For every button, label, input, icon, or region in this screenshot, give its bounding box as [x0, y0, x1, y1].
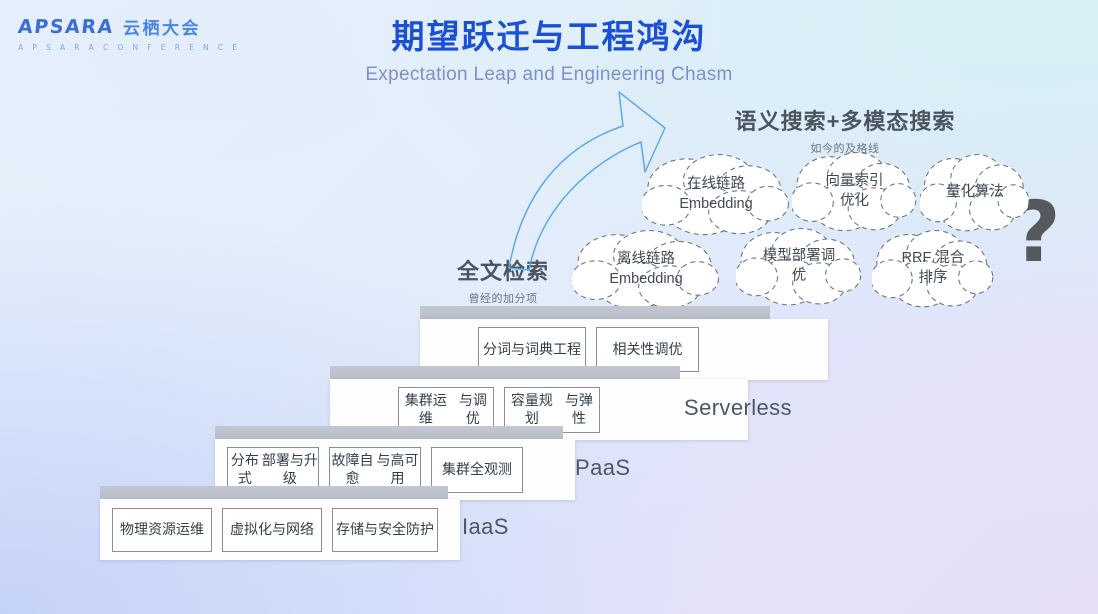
tier-label-serverless: Serverless — [684, 395, 792, 421]
step-riser — [215, 426, 563, 439]
cloud-quantization-algorithm[interactable]: 量化算法 — [920, 152, 1030, 234]
cloud-label: 离线链路Embedding — [597, 250, 694, 289]
chip-label-line: 集群全观测 — [442, 461, 512, 479]
capability-chip[interactable]: 虚拟化与网络 — [222, 508, 322, 552]
chip-label-line: 与调优 — [453, 392, 493, 427]
chip-label-line: 虚拟化与网络 — [230, 521, 314, 539]
page-title: 期望跃迁与工程鸿沟 — [0, 10, 1098, 58]
fulltext-subheading-text: 曾经的加分项 — [418, 290, 588, 306]
step-iaas: 物理资源运维虚拟化与网络存储与安全防护 — [100, 486, 448, 560]
semantic-heading-text: 语义搜索+多模态搜索 — [700, 104, 990, 136]
chip-label-line: 集群运维 — [399, 392, 453, 427]
chip-label-line: 物理资源运维 — [120, 521, 204, 539]
chip-label-line: 部署与升级 — [262, 452, 318, 487]
slide-canvas: APSARA 云栖大会 A P S A R A C O N F E R E N … — [0, 0, 1098, 614]
section-heading-fulltext: 全文检索 曾经的加分项 — [418, 254, 588, 306]
chip-label-line: 故障自愈 — [330, 452, 375, 487]
cloud-vector-index-tuning[interactable]: 向量索引优化 — [792, 150, 917, 234]
chip-label-line: 存储与安全防护 — [336, 521, 434, 539]
cloud-label: 在线链路Embedding — [667, 175, 764, 214]
section-heading-semantic: 语义搜索+多模态搜索 如今的及格线 — [700, 104, 990, 156]
step-riser — [100, 486, 448, 499]
chip-label-line: 分词与词典工程 — [483, 341, 581, 359]
chip-label-line: 分布式 — [228, 452, 262, 487]
cloud-model-deploy-tuning[interactable]: 模型部署调优 — [736, 226, 862, 308]
capability-chip[interactable]: 物理资源运维 — [112, 508, 212, 552]
tier-label-iaas: IaaS — [462, 514, 509, 540]
cloud-rrf-hybrid-ranking[interactable]: RRF 混合排序 — [872, 228, 994, 310]
cloud-label: 模型部署调优 — [751, 247, 848, 286]
cloud-label: 量化算法 — [934, 183, 1016, 203]
chip-label-line: 与弹性 — [559, 392, 599, 427]
cloud-label: 向量索引优化 — [814, 172, 896, 211]
chip-label-line: 容量规划 — [505, 392, 559, 427]
chip-label-line: 与高可用 — [375, 452, 420, 487]
tier-label-paas: PaaS — [575, 455, 630, 481]
cloud-offline-link-embedding[interactable]: 离线链路Embedding — [572, 228, 720, 312]
capability-chip[interactable]: 存储与安全防护 — [332, 508, 438, 552]
fulltext-heading-text: 全文检索 — [418, 254, 588, 286]
chip-label-line: 相关性调优 — [613, 341, 683, 359]
page-subtitle: Expectation Leap and Engineering Chasm — [0, 64, 1098, 86]
step-riser — [330, 366, 680, 379]
step-riser — [420, 306, 770, 319]
step-tread: 物理资源运维虚拟化与网络存储与安全防护 — [100, 499, 460, 560]
cloud-label: RRF 混合排序 — [890, 249, 977, 288]
